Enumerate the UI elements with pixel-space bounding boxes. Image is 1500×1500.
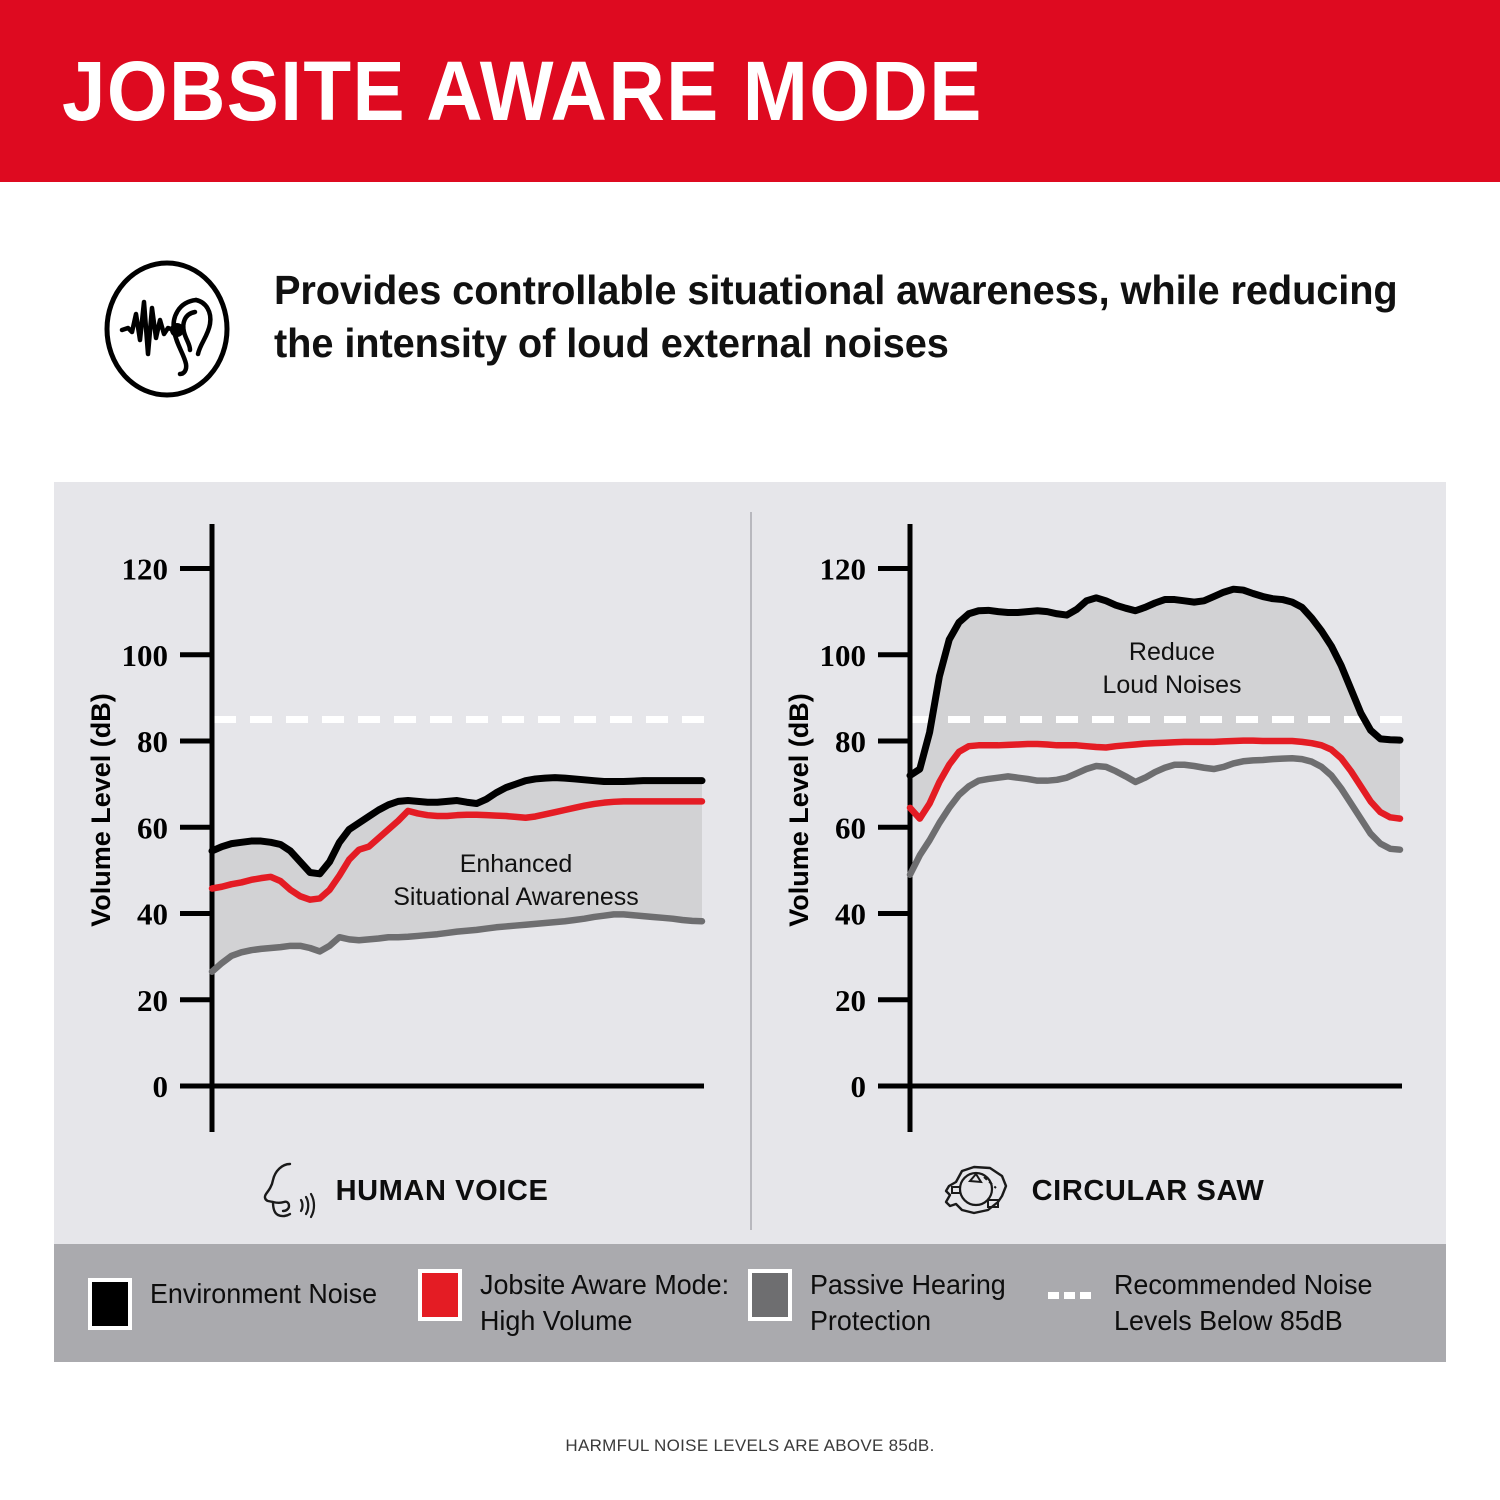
speaking-head-icon [260,1160,318,1222]
svg-text:20: 20 [137,983,168,1018]
legend-swatch-environment-noise [88,1278,132,1330]
svg-text:60: 60 [137,810,168,845]
chart-circular-saw: 020406080100120Volume Level (dB)ReduceLo… [752,482,1452,1244]
chart-human-voice-label: HUMAN VOICE [336,1175,549,1208]
legend-item-jobsite-aware-mode: Jobsite Aware Mode: High Volume [418,1267,748,1339]
svg-text:0: 0 [153,1069,169,1104]
svg-text:20: 20 [835,983,866,1018]
legend-label-environment-noise: Environment Noise [150,1276,377,1312]
chart-human-voice-plot: 020406080100120Volume Level (dB)Enhanced… [54,482,754,1182]
svg-text:Loud Noises: Loud Noises [1103,671,1242,699]
legend-item-passive-hearing-protection: Passive Hearing Protection [748,1267,1048,1339]
svg-text:60: 60 [835,810,866,845]
legend-label-recommended-noise-level: Recommended Noise Levels Below 85dB [1114,1267,1372,1339]
svg-text:Volume Level (dB): Volume Level (dB) [86,693,116,927]
footer-note: HARMFUL NOISE LEVELS ARE ABOVE 85dB. [0,1436,1500,1456]
intro-row: Provides controllable situational awaren… [100,258,1440,408]
legend-label-passive-hearing-protection: Passive Hearing Protection [810,1267,1006,1339]
svg-text:40: 40 [835,897,866,932]
chart-circular-saw-footer: CIRCULAR SAW [752,1160,1452,1222]
circular-saw-icon [940,1162,1014,1220]
svg-text:100: 100 [820,638,867,673]
svg-text:Situational Awareness: Situational Awareness [393,883,639,911]
intro-description: Provides controllable situational awaren… [274,264,1405,371]
svg-text:120: 120 [122,552,169,587]
svg-text:80: 80 [835,724,866,759]
svg-text:Volume Level (dB): Volume Level (dB) [784,693,814,927]
legend-swatch-passive-hearing-protection [748,1269,792,1321]
infographic-page: JOBSITE AWARE MODE Provides controllable… [0,0,1500,1500]
chart-human-voice-footer: HUMAN VOICE [54,1160,754,1222]
page-title: JOBSITE AWARE MODE [62,49,983,133]
svg-text:Enhanced: Enhanced [460,850,573,878]
header-banner: JOBSITE AWARE MODE [0,0,1500,182]
chart-human-voice: 020406080100120Volume Level (dB)Enhanced… [54,482,754,1244]
legend-bar: Environment Noise Jobsite Aware Mode: Hi… [54,1244,1446,1362]
legend-swatch-jobsite-aware-mode [418,1269,462,1321]
svg-text:120: 120 [820,552,867,587]
chart-circular-saw-plot: 020406080100120Volume Level (dB)ReduceLo… [752,482,1452,1182]
svg-text:0: 0 [851,1069,867,1104]
svg-text:100: 100 [122,638,169,673]
svg-text:40: 40 [137,897,168,932]
chart-circular-saw-label: CIRCULAR SAW [1032,1175,1265,1208]
ear-soundwave-icon [100,258,234,400]
legend-item-environment-noise: Environment Noise [88,1276,418,1330]
svg-text:Reduce: Reduce [1129,638,1215,666]
legend-swatch-recommended-noise-level [1048,1269,1096,1321]
legend-item-recommended-noise-level: Recommended Noise Levels Below 85dB [1048,1267,1388,1339]
legend-label-jobsite-aware-mode: Jobsite Aware Mode: High Volume [480,1267,729,1339]
svg-text:80: 80 [137,724,168,759]
